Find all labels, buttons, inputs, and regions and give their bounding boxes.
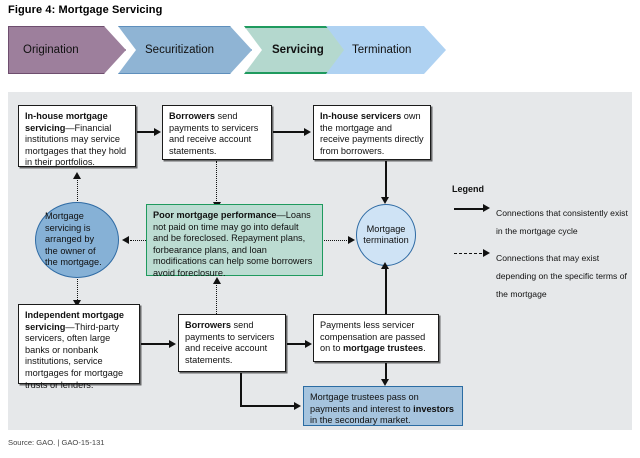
node-payments-to-mortgage-trustees-lead: mortgage trustees xyxy=(343,343,423,353)
arrowhead-servicers-to-termination xyxy=(381,197,389,204)
legend: Legend Connections that consistently exi… xyxy=(452,184,632,311)
phase-termination[interactable]: Termination xyxy=(326,26,446,74)
connector-servicing-to-inhouse xyxy=(77,178,78,201)
node-independent-mortgage-servicing[interactable]: Independent mortgage servicing—Third-par… xyxy=(18,304,140,384)
node-payments-to-mortgage-trustees[interactable]: Payments less servicer compensation are … xyxy=(313,314,439,362)
dashed-arrow-icon xyxy=(483,249,490,257)
node-trustees-pass-to-investors-post: in the secondary market. xyxy=(310,415,411,425)
legend-item-solid: Connections that consistently exist in t… xyxy=(452,203,632,239)
solid-arrow-icon xyxy=(483,204,490,212)
mortgage-lifecycle-banner: Origination Securitization Servicing Ter… xyxy=(8,26,438,74)
connector-payments-to-termination xyxy=(385,268,387,316)
connector-borrowers-bottom-to-poor-performance xyxy=(216,283,217,316)
legend-title: Legend xyxy=(452,184,632,194)
arrowhead-payments-to-investors xyxy=(381,379,389,386)
arrowhead-servicing-to-inhouse xyxy=(73,172,81,179)
node-poor-mortgage-performance-body: —Loans not paid on time may go into defa… xyxy=(153,210,312,278)
dashed-line-icon xyxy=(454,253,482,254)
node-inhouse-servicers-lead: In-house servicers xyxy=(320,111,401,121)
arrowhead-poor-performance-to-servicing xyxy=(122,236,129,244)
solid-line-icon xyxy=(454,208,484,210)
node-borrowers-bottom-lead: Borrowers xyxy=(185,320,231,330)
node-trustees-pass-to-investors[interactable]: Mortgage trustees pass on payments and i… xyxy=(303,386,463,426)
node-trustees-pass-to-investors-pre: Mortgage trustees pass on payments and i… xyxy=(310,392,419,414)
node-borrowers-top-lead: Borrowers xyxy=(169,111,215,121)
connector-borrowers-to-servicers xyxy=(273,131,305,133)
connector-borrowers-elbow-horizontal xyxy=(240,405,295,407)
phase-termination-label: Termination xyxy=(326,44,446,56)
phase-origination[interactable]: Origination xyxy=(8,26,126,74)
legend-item-dashed-label: Connections that may exist depending on … xyxy=(496,253,627,299)
arrowhead-independent-to-borrowers xyxy=(169,340,176,348)
node-mortgage-servicing-arranged[interactable]: Mortgage servicing is arranged by the ow… xyxy=(35,202,119,278)
node-trustees-pass-to-investors-lead: investors xyxy=(413,404,454,414)
arrowhead-payments-to-termination xyxy=(381,262,389,269)
node-inhouse-servicers[interactable]: In-house servicers own the mortgage and … xyxy=(313,105,431,160)
phase-securitization[interactable]: Securitization xyxy=(118,26,252,74)
legend-item-solid-label: Connections that consistently exist in t… xyxy=(496,208,628,236)
node-poor-mortgage-performance[interactable]: Poor mortgage performance—Loans not paid… xyxy=(146,204,323,276)
node-mortgage-servicing-arranged-text: Mortgage servicing is arranged by the ow… xyxy=(45,211,109,268)
connector-servicing-to-independent xyxy=(77,279,78,302)
connector-servicers-to-termination xyxy=(385,161,387,199)
node-mortgage-termination-text: Mortgage termination xyxy=(363,224,408,247)
node-poor-mortgage-performance-lead: Poor mortgage performance xyxy=(153,210,277,220)
figure-root: Figure 4: Mortgage Servicing Origination… xyxy=(0,0,640,458)
connector-borrowers-elbow-vertical xyxy=(240,373,242,406)
connector-poor-performance-to-termination xyxy=(324,240,349,241)
source-note: Source: GAO. | GAO-15-131 xyxy=(8,438,105,447)
phase-origination-label: Origination xyxy=(9,44,125,56)
arrowhead-poor-performance-to-termination xyxy=(348,236,355,244)
phase-securitization-label: Securitization xyxy=(119,44,251,56)
connector-borrowers-to-poor-performance xyxy=(216,161,217,203)
legend-item-dashed: Connections that may exist depending on … xyxy=(452,248,632,302)
page-title: Figure 4: Mortgage Servicing xyxy=(8,4,162,16)
arrowhead-borrowers-to-servicers xyxy=(304,128,311,136)
arrowhead-inhouse-to-borrowers xyxy=(154,128,161,136)
arrowhead-borrowers-bottom-to-poor-performance xyxy=(213,277,221,284)
connector-payments-to-investors xyxy=(385,363,387,380)
connector-inhouse-to-borrowers xyxy=(137,131,155,133)
node-borrowers-bottom[interactable]: Borrowers send payments to servicers and… xyxy=(178,314,286,372)
node-payments-to-mortgage-trustees-post: . xyxy=(423,343,426,353)
arrowhead-borrowers-to-investors xyxy=(294,402,301,410)
arrowhead-borrowers-bottom-to-payments xyxy=(305,340,312,348)
connector-poor-performance-to-servicing xyxy=(130,240,146,241)
node-borrowers-top[interactable]: Borrowers send payments to servicers and… xyxy=(162,105,272,160)
node-mortgage-termination[interactable]: Mortgage termination xyxy=(356,204,416,266)
connector-borrowers-bottom-to-payments xyxy=(287,343,306,345)
node-inhouse-mortgage-servicing[interactable]: In-house mortgage servicing—Financial in… xyxy=(18,105,136,167)
connector-independent-to-borrowers xyxy=(141,343,170,345)
diagram-panel: In-house mortgage servicing—Financial in… xyxy=(8,92,632,430)
